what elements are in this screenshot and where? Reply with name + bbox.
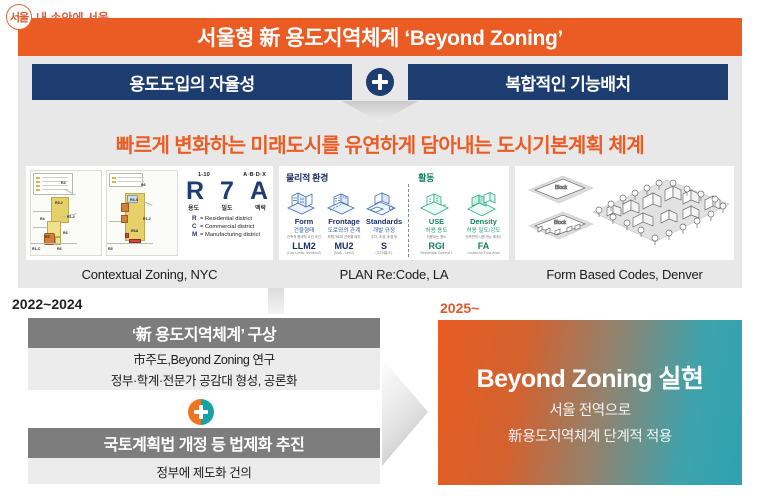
caption-nyc-text: Contextual Zoning, NYC bbox=[82, 267, 218, 282]
svg-text:Block: Block bbox=[554, 220, 567, 226]
map-label: R6-X bbox=[130, 198, 138, 202]
roadmap-block-2-body: 정부에 제도화 건의 bbox=[28, 458, 380, 484]
roadmap-block-2-heading: 국토계획법 개정 등 법제화 추진 bbox=[28, 428, 380, 458]
la-item-code: FA bbox=[460, 241, 507, 251]
la-item-kr: 허용 밀도/강도 bbox=[460, 226, 507, 234]
roadmap-block-2: 국토계획법 개정 등 법제화 추진 정부에 제도화 건의 bbox=[28, 428, 380, 484]
la-item-form: Form 건물형태 건축적 형태적 요건 조건 LLM2 (Low-Limits… bbox=[284, 184, 324, 257]
caption-la: PLAN Re:Code, LA bbox=[279, 262, 509, 286]
la-group-title-activity: 활동 bbox=[418, 171, 434, 184]
la-group-title-physical: 물리적 환경 bbox=[286, 171, 328, 184]
caption-nyc: Contextual Zoning, NYC bbox=[26, 262, 273, 286]
use-icon bbox=[413, 184, 460, 216]
map-label: R1-2 bbox=[67, 215, 75, 219]
la-item-code-sub: (Multi - Unit2) bbox=[324, 251, 364, 255]
la-item-kr: 건물형태 bbox=[284, 226, 324, 234]
la-item-code: LLM2 bbox=[284, 241, 324, 251]
brand-text: 내 손안에 서울 bbox=[36, 9, 109, 26]
la-item-code-sub: Residential General 1 bbox=[413, 251, 460, 255]
nyc-map-left: R4 R5-2 R4 R1-2 R6 R5 R6 R1-C bbox=[30, 170, 102, 256]
la-item-code-sub: Limited by Floor Area bbox=[460, 251, 507, 255]
pillar-right: 복합적인 기능배치 bbox=[408, 64, 728, 100]
la-item-frontage: Frontage 도로와의 관계 보행가로와 건축물 배치 MU2 (Multi… bbox=[324, 184, 364, 257]
caption-la-text: PLAN Re:Code, LA bbox=[340, 267, 449, 282]
page-title: 서울형 新 용도지역체계 ‘Beyond Zoning’ bbox=[18, 18, 742, 56]
la-item-name: Frontage bbox=[324, 217, 364, 226]
roadmap-block-1-heading-text: ‘新 용도지역체계’ 구상 bbox=[132, 321, 276, 345]
roadmap-block-2-heading-text: 국토계획법 개정 등 법제화 추진 bbox=[104, 431, 305, 455]
la-item-name: USE bbox=[413, 217, 460, 226]
la-item-standards: Standards 개발 규정 주차, 조경, 조경 등 S (주차/園/도) bbox=[364, 184, 404, 257]
page-title-text: 서울형 新 용도지역체계 ‘Beyond Zoning’ bbox=[197, 22, 563, 52]
example-panel-la: 물리적 환경 활동 bbox=[279, 166, 509, 260]
la-item-use: USE 허용 용도 허용되는 용도 RGI Residential Genera… bbox=[413, 184, 460, 257]
roadmap-block-2-line-1: 정부에 제도화 건의 bbox=[157, 462, 252, 481]
connector-stem bbox=[268, 288, 284, 314]
outcome-line-2: 新용도지역체계 단계적 적용 bbox=[508, 427, 672, 447]
la-group-titles: 물리적 환경 활동 bbox=[284, 171, 505, 184]
map-label: R5-2 bbox=[55, 201, 63, 205]
roadmap-block-1-line-2: 정부·학계·전문가 공감대 형성, 공론화 bbox=[111, 370, 297, 389]
roadmap-block-1: ‘新 용도지역체계’ 구상 市주도,Beyond Zoning 연구 정부·학계… bbox=[28, 318, 380, 390]
roadmap-block-1-line-1: 市주도,Beyond Zoning 연구 bbox=[133, 349, 275, 368]
map-legend-box bbox=[33, 173, 73, 195]
map-label: R5 bbox=[45, 235, 50, 239]
la-item-sub: 허용되는 용도 bbox=[413, 235, 460, 239]
zoning-code-legend: 1-10 A·B·D·X R 7 A 용도 밀도 맥락 R = Resident… bbox=[184, 172, 270, 239]
la-group-activity: USE 허용 용도 허용되는 용도 RGI Residential Genera… bbox=[413, 184, 507, 257]
plus-circle-duo-icon bbox=[188, 399, 214, 425]
example-panel-denver: Block Block bbox=[515, 166, 734, 260]
roadmap-block-1-body: 市주도,Beyond Zoning 연구 정부·학계·전문가 공감대 형성, 공… bbox=[28, 348, 380, 390]
la-item-code: RGI bbox=[413, 241, 460, 251]
la-diagram: 물리적 환경 활동 bbox=[279, 166, 509, 260]
la-group-physical: Form 건물형태 건축적 형태적 요건 조건 LLM2 (Low-Limits… bbox=[284, 184, 404, 257]
la-item-code: S bbox=[364, 241, 404, 251]
la-item-sub: 주차, 조경, 조경 등 bbox=[364, 235, 404, 239]
la-item-sub: 건축면적 사용가능 세대수 bbox=[460, 235, 507, 239]
la-item-kr: 허용 용도 bbox=[413, 226, 460, 234]
denver-isometric-blocks: Block Block bbox=[515, 166, 734, 260]
example-panel-nyc: R4 R5-2 R4 R1-2 R6 R5 R6 R1-C bbox=[26, 166, 273, 260]
code-letter-context: A bbox=[250, 178, 268, 204]
legend-key: R bbox=[192, 215, 198, 223]
nyc-map-pair: R4 R5-2 R4 R1-2 R6 R5 R6 R1-C bbox=[30, 170, 178, 256]
legend-row: M = Manufacturing district bbox=[192, 231, 270, 239]
timeline-year-right: 2025~ bbox=[440, 300, 479, 316]
la-item-sub: 건축적 형태적 요건 조건 bbox=[284, 235, 324, 239]
pillars-row: 용도도입의 자율성 복합적인 기능배치 bbox=[18, 64, 742, 100]
legend-row: R = Residential district bbox=[192, 215, 270, 223]
example-panels: R4 R5-2 R4 R1-2 R6 R5 R6 R1-C bbox=[26, 166, 734, 260]
la-item-sub: 보행가로와 건축물 배치 bbox=[324, 235, 364, 239]
outcome-line-1: 서울 전역으로 bbox=[549, 401, 630, 421]
outcome-panel: Beyond Zoning 실현 서울 전역으로 新용도지역체계 단계적 적용 bbox=[438, 320, 742, 485]
caption-denver: Form Based Codes, Denver bbox=[515, 262, 734, 286]
code-kr-context: 맥락 bbox=[255, 203, 266, 212]
density-icon bbox=[460, 184, 507, 216]
legend-key: M bbox=[192, 231, 198, 239]
map-label: R1-2 bbox=[143, 217, 151, 221]
map-label: R6 bbox=[57, 247, 62, 251]
la-item-density: Density 허용 밀도/강도 건축면적 사용가능 세대수 FA Limite… bbox=[460, 184, 507, 257]
plus-circle-icon bbox=[366, 68, 394, 96]
pillar-left-label: 용도도입의 자율성 bbox=[129, 70, 254, 95]
code-letter-density: 7 bbox=[220, 178, 234, 204]
standards-icon bbox=[364, 184, 404, 216]
la-item-kr: 도로와의 관계 bbox=[324, 226, 364, 234]
la-item-code-sub: (주차/園/도) bbox=[364, 251, 404, 255]
arrow-right-icon bbox=[382, 358, 428, 466]
map-label: R1-C bbox=[32, 247, 40, 251]
map-label: R4 bbox=[40, 217, 45, 221]
legend-value: = Commercial district bbox=[200, 223, 254, 231]
map-label: R5 bbox=[108, 247, 113, 251]
la-item-kr: 개발 규정 bbox=[364, 226, 404, 234]
roadmap-block-1-heading: ‘新 용도지역체계’ 구상 bbox=[28, 318, 380, 348]
la-item-code-sub: (Low-Limits- Medium2) bbox=[284, 251, 324, 255]
code-kr-density: 밀도 bbox=[221, 203, 232, 212]
la-item-name: Form bbox=[284, 217, 324, 226]
legend-value: = Residential district bbox=[200, 215, 252, 223]
la-divider bbox=[408, 184, 409, 257]
map-label: R6 bbox=[141, 183, 146, 187]
la-item-name: Density bbox=[460, 217, 507, 226]
code-letter-use: R bbox=[186, 178, 204, 204]
map-label: R6 bbox=[63, 231, 68, 235]
pillar-right-label: 복합적인 기능배치 bbox=[505, 70, 630, 95]
banner-text: 빠르게 변화하는 미래도시를 유연하게 담아내는 도시기본계획 체계 bbox=[116, 129, 644, 158]
timeline-year-left: 2022~2024 bbox=[12, 296, 82, 312]
la-item-code: MU2 bbox=[324, 241, 364, 251]
banner: 빠르게 변화하는 미래도시를 유연하게 담아내는 도시기본계획 체계 bbox=[18, 126, 742, 160]
pillar-left: 용도도입의 자율성 bbox=[32, 64, 352, 100]
frontage-icon bbox=[324, 184, 364, 216]
map-label: R6A bbox=[131, 229, 138, 233]
map-label: R4 bbox=[61, 181, 66, 185]
map-legend-box bbox=[109, 173, 143, 187]
building-form-icon bbox=[284, 184, 324, 216]
outcome-title: Beyond Zoning 실현 bbox=[477, 359, 704, 395]
caption-denver-text: Form Based Codes, Denver bbox=[546, 267, 702, 282]
brand: 서울 내 손안에 서울 bbox=[6, 4, 109, 30]
example-captions: Contextual Zoning, NYC PLAN Re:Code, LA … bbox=[26, 262, 734, 286]
la-item-name: Standards bbox=[364, 217, 404, 226]
nyc-map-right: R6 R6-X R1-2 R6A R5 bbox=[106, 170, 178, 256]
legend-key: C bbox=[192, 223, 198, 231]
svg-text:Block: Block bbox=[555, 185, 568, 191]
seoul-logo-icon: 서울 bbox=[6, 4, 32, 30]
legend-row: C = Commercial district bbox=[192, 223, 270, 231]
code-kr-use: 용도 bbox=[188, 203, 199, 212]
legend-value: = Manufacturing district bbox=[200, 231, 260, 239]
infographic-page: 서울 내 손안에 서울 서울형 新 용도지역체계 ‘Beyond Zoning’… bbox=[0, 0, 760, 500]
